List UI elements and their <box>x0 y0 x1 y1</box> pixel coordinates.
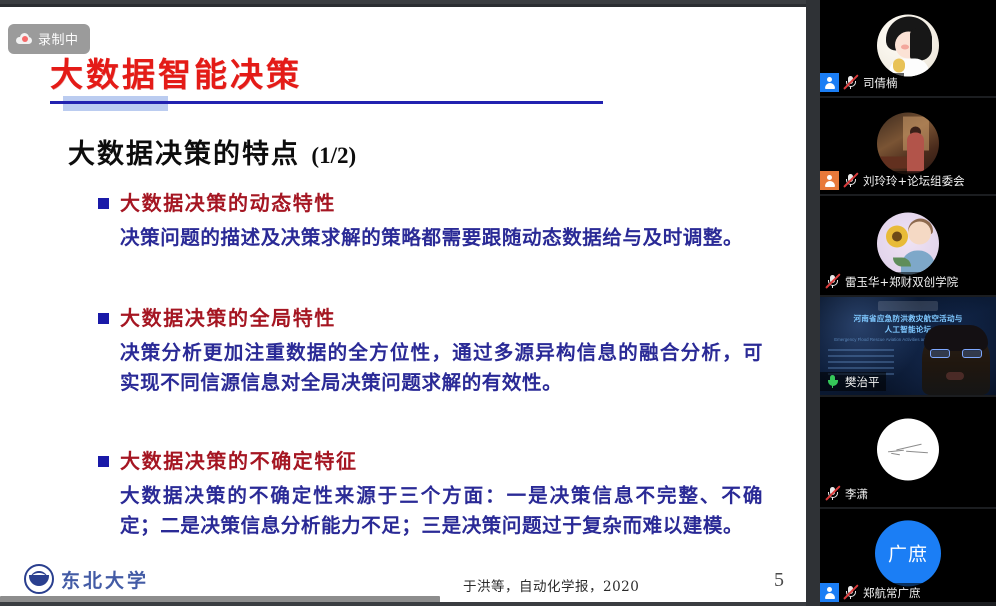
room-photo-avatar <box>877 113 939 175</box>
bullet-heading-row-3: 大数据决策的不确定特征 <box>98 447 763 476</box>
bullet-square-icon <box>98 456 109 467</box>
host-person-icon <box>820 583 839 602</box>
bullet-heading-1: 大数据决策的动态特性 <box>120 189 336 218</box>
participant-tile-2[interactable]: 刘玲玲+论坛组委会 <box>820 98 996 196</box>
slide-citation: 于洪等，自动化学报，2020 <box>463 575 639 595</box>
video-banner-line1: 河南省应急防洪救灾航空活动与 <box>826 313 990 324</box>
slide-subtitle-text: 大数据决策的特点 <box>68 139 300 170</box>
participant-name-2: 刘玲玲+论坛组委会 <box>863 173 965 189</box>
bullet-square-icon <box>98 313 109 324</box>
shared-slide-stage: 录制中 大数据智能决策 大数据决策的特点 (1/2) 大数据决策的动态特性 决策… <box>0 0 820 606</box>
cloud-recording-icon <box>16 33 32 44</box>
participant-tile-5[interactable]: 李潇 <box>820 397 996 509</box>
university-emblem-icon <box>24 564 54 594</box>
avatar-initials-text: 广庶 <box>888 539 928 566</box>
participant-name-1: 司倩楠 <box>863 75 898 91</box>
slide-subtitle: 大数据决策的特点 (1/2) <box>68 132 356 171</box>
host-person-icon <box>820 73 839 92</box>
bullet-square-icon <box>98 198 109 209</box>
bullet-block-3: 大数据决策的不确定特征 大数据决策的不确定性来源于三个方面：一是决策信息不完整、… <box>98 447 763 540</box>
university-logo-text: 东北大学 <box>61 566 149 593</box>
initials-avatar: 广庶 <box>875 520 941 586</box>
bullet-body-1: 决策问题的描述及决策求解的策略都需要跟随动态数据给与及时调整。 <box>120 223 763 253</box>
participant-namebar-4: 樊治平 <box>820 372 886 391</box>
event-logo-icon <box>878 301 938 311</box>
participant-namebar-3: 雷玉华+郑财双创学院 <box>820 272 964 291</box>
anime-girl-avatar <box>877 15 939 77</box>
participant-name-3: 雷玉华+郑财双创学院 <box>845 274 958 290</box>
mic-muted-icon[interactable] <box>842 74 859 91</box>
sunflower-girl-avatar <box>877 212 939 274</box>
slide-horizontal-scrollbar[interactable] <box>0 596 440 602</box>
participant-namebar-6: 郑航常广庶 <box>820 583 927 602</box>
participant-namebar-5: 李潇 <box>820 484 874 503</box>
slide-page-number: 5 <box>774 569 784 592</box>
bullet-heading-row-2: 大数据决策的全局特性 <box>98 304 763 333</box>
mic-active-icon[interactable] <box>824 373 841 390</box>
recording-indicator-badge[interactable]: 录制中 <box>8 24 90 54</box>
participant-name-6: 郑航常广庶 <box>863 585 921 601</box>
mic-muted-icon[interactable] <box>842 584 859 601</box>
participant-namebar-1: 司倩楠 <box>820 73 904 92</box>
slide-subtitle-fraction: (1/2) <box>311 143 356 168</box>
participant-tile-6[interactable]: 广庶 郑航常广庶 <box>820 509 996 604</box>
bullet-body-2: 决策分析更加注重数据的全方位性，通过多源异构信息的融合分析，可实现不同信源信息对… <box>120 338 763 397</box>
bullet-heading-2: 大数据决策的全局特性 <box>120 304 336 333</box>
bullet-heading-row-1: 大数据决策的动态特性 <box>98 189 763 218</box>
stage-divider <box>806 0 820 606</box>
participant-tile-3[interactable]: 雷玉华+郑财双创学院 <box>820 196 996 297</box>
white-sketch-avatar <box>877 419 939 481</box>
participant-namebar-2: 刘玲玲+论坛组委会 <box>820 171 971 190</box>
slide-top-edge <box>0 4 806 7</box>
participant-tile-4-active-speaker[interactable]: 河南省应急防洪救灾航空活动与 人工智能论坛 Emergency Flood Re… <box>820 297 996 397</box>
recording-label: 录制中 <box>38 29 79 48</box>
bullet-block-1: 大数据决策的动态特性 决策问题的描述及决策求解的策略都需要跟随动态数据给与及时调… <box>98 189 763 253</box>
meeting-screen-share-window: 录制中 大数据智能决策 大数据决策的特点 (1/2) 大数据决策的动态特性 决策… <box>0 0 996 606</box>
mic-muted-icon[interactable] <box>824 485 841 502</box>
presentation-slide[interactable]: 录制中 大数据智能决策 大数据决策的特点 (1/2) 大数据决策的动态特性 决策… <box>0 4 806 602</box>
bullet-heading-3: 大数据决策的不确定特征 <box>120 447 358 476</box>
participant-name-4: 樊治平 <box>845 374 880 390</box>
bullet-body-3: 大数据决策的不确定性来源于三个方面：一是决策信息不完整、不确定；二是决策信息分析… <box>120 481 763 540</box>
mic-muted-icon[interactable] <box>842 172 859 189</box>
participant-tile-1[interactable]: 司倩楠 <box>820 0 996 98</box>
participant-name-5: 李潇 <box>845 486 868 502</box>
speaker-person <box>922 325 990 395</box>
host-person-icon <box>820 171 839 190</box>
participant-video-strip[interactable]: 司倩楠 刘玲玲+论坛组委会 <box>820 0 996 606</box>
university-logo: 东北大学 <box>24 564 149 594</box>
bullet-block-2: 大数据决策的全局特性 决策分析更加注重数据的全方位性，通过多源异构信息的融合分析… <box>98 304 763 397</box>
mic-muted-icon[interactable] <box>824 273 841 290</box>
slide-title: 大数据智能决策 <box>50 48 302 96</box>
title-rule <box>50 101 603 104</box>
